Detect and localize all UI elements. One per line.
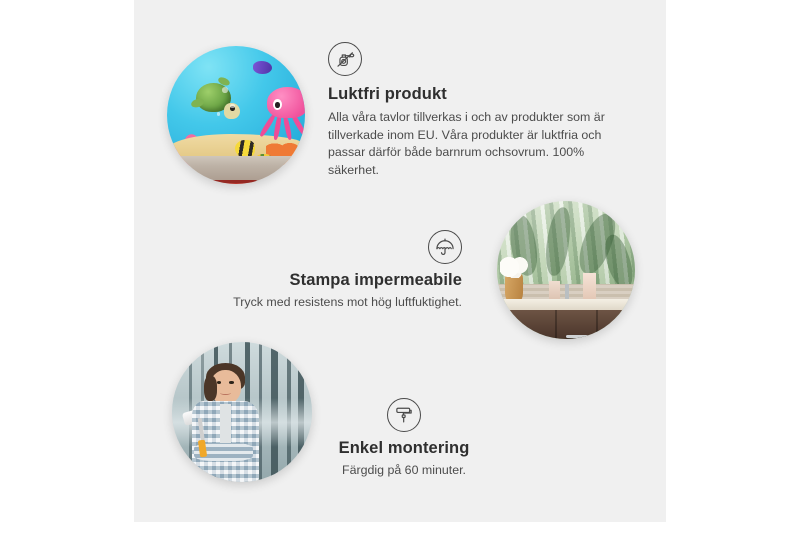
faucet [565, 284, 569, 301]
purple-fish [253, 61, 272, 73]
paint-roller-icon [387, 398, 421, 432]
infographic-canvas: Luktfri produkt Alla våra tavlor tillver… [0, 0, 800, 533]
umbrella-icon [428, 230, 462, 264]
feature-block-odourless: Luktfri produkt Alla våra tavlor tillver… [328, 42, 624, 179]
striped-fish [235, 140, 256, 158]
soap-bottle [549, 281, 560, 300]
feature-description: Alla våra tavlor tillverkas i och av pro… [328, 109, 624, 179]
feature-title: Luktfri produkt [328, 85, 624, 104]
feature-block-waterproof: Stampa impermeabile Tryck med resistens … [190, 230, 462, 312]
feature-title: Stampa impermeabile [190, 271, 462, 290]
white-flowers [500, 256, 530, 278]
octopus-illustration [261, 87, 305, 139]
feature-description: Tryck med resistens mot hög luftfuktighe… [190, 294, 462, 312]
bathroom-botanical-wallpaper-photo [497, 201, 635, 339]
turtle-illustration [190, 79, 237, 122]
room-foreground [167, 156, 305, 184]
feature-description: Färgdig på 60 minuter. [300, 462, 508, 480]
feature-title: Enkel montering [300, 439, 508, 458]
red-sofa [203, 180, 258, 184]
dispenser-bottle [583, 273, 597, 301]
woman-with-paint-roller-photo [172, 342, 312, 482]
feature-block-easy-mounting: Enkel montering Färgdig på 60 minuter. [300, 398, 508, 480]
underwater-kids-mural-photo [167, 46, 305, 184]
no-fragrance-icon [328, 42, 362, 76]
wood-vanity [497, 310, 635, 339]
